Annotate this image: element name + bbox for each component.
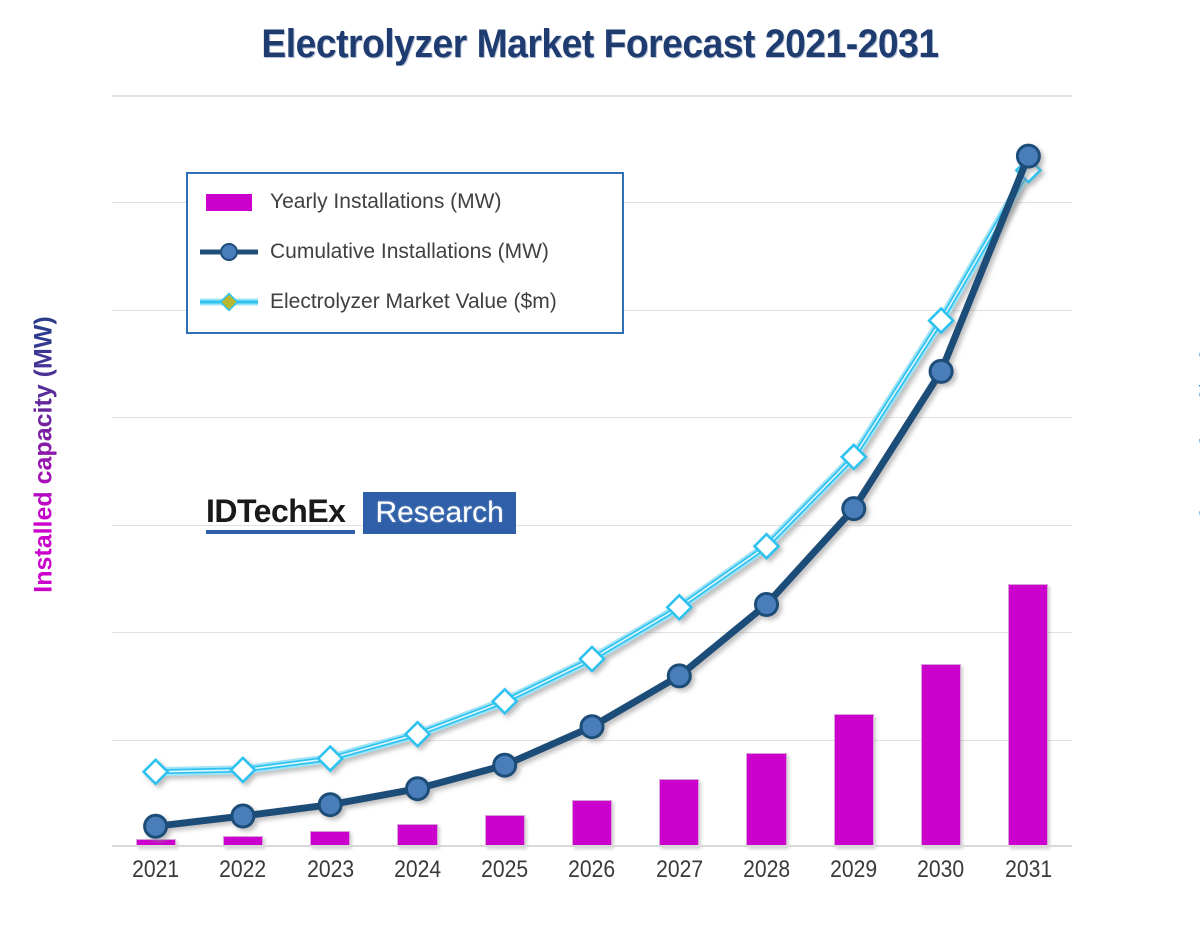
legend-item-yearly-installations[interactable]: Yearly Installations (MW) <box>188 182 622 222</box>
bar-swatch-magenta-icon <box>188 194 270 211</box>
x-tick-2025: 2025 <box>466 856 543 884</box>
watermark-logo: IDTechEx Research <box>206 492 516 534</box>
line-marker-circle-navy-icon <box>188 241 270 263</box>
legend-label: Yearly Installations (MW) <box>270 190 501 214</box>
x-axis-tick-labels: 2021202220232024202520262027202820292030… <box>112 856 1072 896</box>
x-tick-2021: 2021 <box>117 856 194 884</box>
logo-product-badge: Research <box>363 492 515 534</box>
x-tick-2030: 2030 <box>903 856 980 884</box>
legend-label: Cumulative Installations (MW) <box>270 240 549 264</box>
logo-brand-text: IDTechEx <box>206 492 355 534</box>
left-axis-title: Installed capacity (MW) <box>30 245 59 665</box>
x-tick-2027: 2027 <box>641 856 718 884</box>
x-axis-line <box>112 845 1072 847</box>
legend-item-cumulative-installations[interactable]: Cumulative Installations (MW) <box>188 232 622 272</box>
x-tick-2024: 2024 <box>379 856 456 884</box>
x-tick-2031: 2031 <box>990 856 1067 884</box>
x-tick-2023: 2023 <box>292 856 369 884</box>
right-axis-title: Market Value ($m) <box>1196 245 1200 665</box>
legend-label: Electrolyzer Market Value ($m) <box>270 290 557 314</box>
chart-legend: Yearly Installations (MW) Cumulative Ins… <box>186 172 624 334</box>
x-tick-2029: 2029 <box>815 856 892 884</box>
legend-item-market-value[interactable]: Electrolyzer Market Value ($m) <box>188 282 622 322</box>
page-title: Electrolyzer Market Forecast 2021-2031 <box>42 22 1158 67</box>
line-marker-diamond-cyan-icon <box>188 291 270 313</box>
x-tick-2028: 2028 <box>728 856 805 884</box>
x-tick-2026: 2026 <box>554 856 631 884</box>
x-tick-2022: 2022 <box>205 856 282 884</box>
